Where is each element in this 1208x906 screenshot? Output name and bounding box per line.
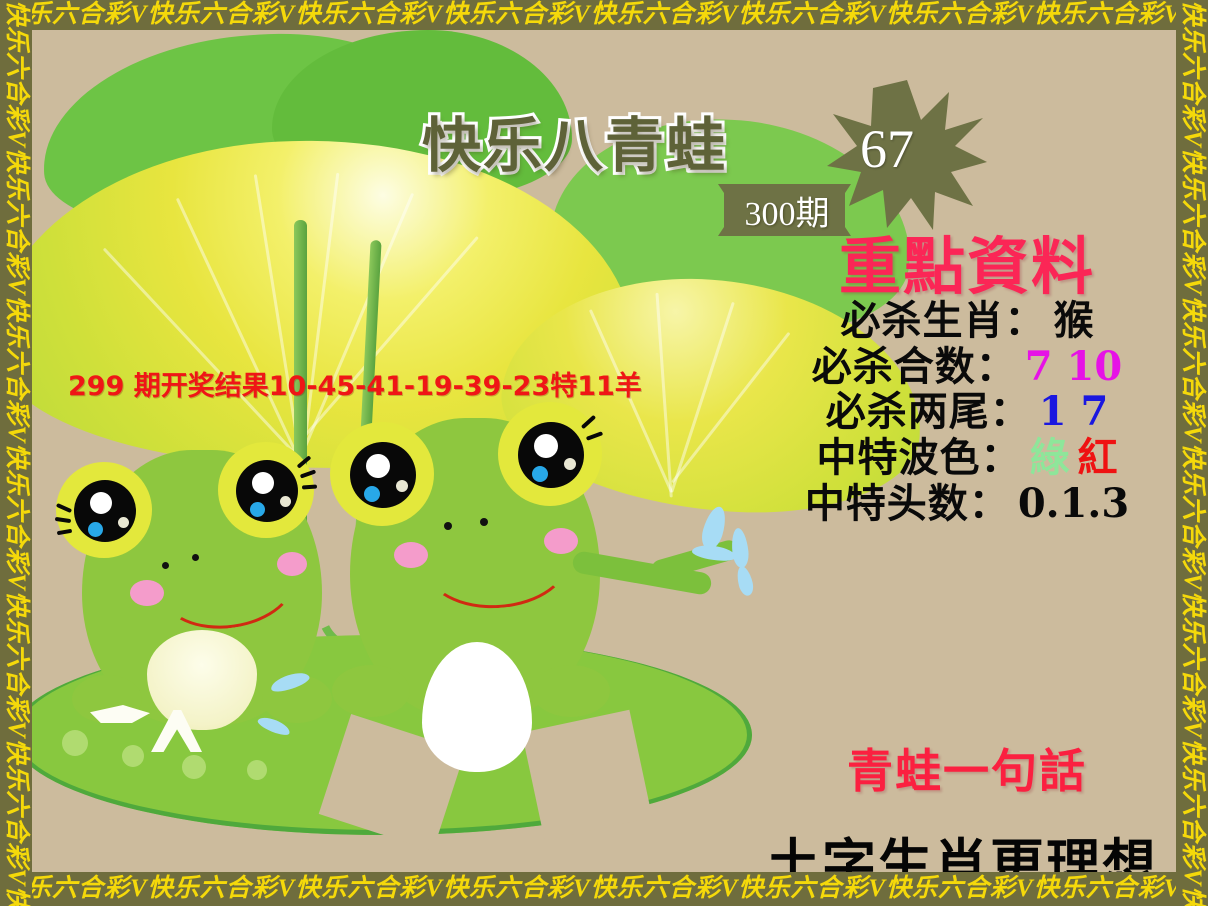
- draw-result-line: 299 期开奖结果10-45-41-19-39-23特11羊: [68, 364, 642, 403]
- water-droplet: [735, 565, 756, 597]
- info-row-label: 中特头数：: [805, 481, 1010, 527]
- page-title: 快乐八青蛙: [422, 98, 727, 183]
- footer-tagline: 青蛙一句話: [732, 735, 1176, 801]
- info-row-value: 1 7: [1039, 389, 1109, 435]
- info-row-value-green: 綠: [1030, 435, 1070, 481]
- border-left-text: 快乐六合彩V快乐六合彩V快乐六合彩V快乐六合彩V快乐六合彩V快乐六合彩V快乐六合…: [1, 0, 31, 906]
- info-row-value-red: 紅: [1078, 435, 1118, 481]
- border-left: 快乐六合彩V快乐六合彩V快乐六合彩V快乐六合彩V快乐六合彩V快乐六合彩V快乐六合…: [0, 0, 32, 906]
- info-row: 必杀两尾： 1 7: [732, 389, 1176, 435]
- panel-heading: 重點資料: [732, 235, 1176, 298]
- info-row: 中特头数： 0.1.3: [732, 481, 1176, 527]
- poster-canvas: 67 300期 快乐八青蛙 299 期开奖结果10-45-41-19-39-23…: [32, 30, 1176, 872]
- issue-banner-text: 300期: [722, 186, 852, 235]
- info-row-value: 7 10: [1025, 344, 1122, 390]
- info-row: 必杀合数： 7 10: [732, 344, 1176, 390]
- info-row-value: 猴: [1054, 298, 1094, 344]
- key-info-panel: 重點資料 必杀生肖： 猴 必杀合数： 7 10 必杀两尾： 1 7 中特波色： …: [732, 235, 1176, 526]
- border-top-text: 快乐六合彩V快乐六合彩V快乐六合彩V快乐六合彩V快乐六合彩V快乐六合彩V快乐六合…: [0, 1, 1208, 28]
- border-bottom: 快乐六合彩V快乐六合彩V快乐六合彩V快乐六合彩V快乐六合彩V快乐六合彩V快乐六合…: [0, 872, 1208, 906]
- info-row-label: 中特波色：: [817, 435, 1022, 481]
- info-row: 中特波色： 綠 紅: [732, 435, 1176, 481]
- footer-phrase: 土字生肖更理想: [692, 820, 1176, 872]
- water-droplet: [730, 527, 750, 568]
- info-row-label: 必杀合数：: [812, 344, 1017, 390]
- lottery-poster: 快乐六合彩V快乐六合彩V快乐六合彩V快乐六合彩V快乐六合彩V快乐六合彩V快乐六合…: [0, 0, 1208, 906]
- border-right-text: 快乐六合彩V快乐六合彩V快乐六合彩V快乐六合彩V快乐六合彩V快乐六合彩V快乐六合…: [1177, 0, 1207, 906]
- burst-number: 67: [860, 118, 914, 180]
- border-bottom-text: 快乐六合彩V快乐六合彩V快乐六合彩V快乐六合彩V快乐六合彩V快乐六合彩V快乐六合…: [0, 875, 1208, 902]
- info-row: 必杀生肖： 猴: [732, 298, 1176, 344]
- border-top: 快乐六合彩V快乐六合彩V快乐六合彩V快乐六合彩V快乐六合彩V快乐六合彩V快乐六合…: [0, 0, 1208, 30]
- lily-pad-notch-right: [522, 710, 652, 840]
- info-row-label: 必杀生肖：: [841, 298, 1046, 344]
- info-row-label: 必杀两尾：: [826, 389, 1031, 435]
- border-right: 快乐六合彩V快乐六合彩V快乐六合彩V快乐六合彩V快乐六合彩V快乐六合彩V快乐六合…: [1176, 0, 1208, 906]
- info-row-value: 0.1.3: [1018, 481, 1129, 527]
